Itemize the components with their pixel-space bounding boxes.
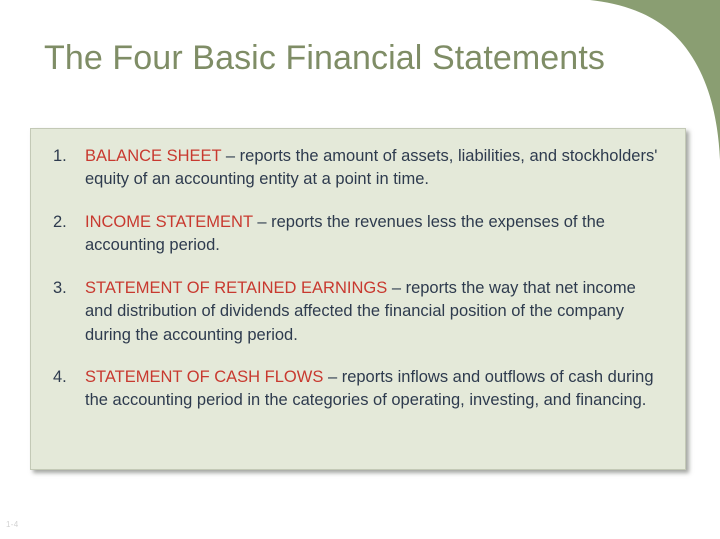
presentation-slide: The Four Basic Financial Statements 1. B… [0, 0, 720, 539]
slide-number: 1-4 [6, 520, 18, 529]
list-item-number: 2. [53, 211, 79, 234]
list-item: 4. STATEMENT OF CASH FLOWS – reports inf… [51, 366, 665, 413]
list-item: 3. STATEMENT OF RETAINED EARNINGS – repo… [51, 277, 665, 347]
list-item-number: 3. [53, 277, 79, 300]
financial-statements-list: 1. BALANCE SHEET – reports the amount of… [51, 145, 665, 413]
list-item-term: INCOME STATEMENT [85, 213, 253, 231]
list-item-number: 4. [53, 366, 79, 389]
list-item-term: STATEMENT OF CASH FLOWS [85, 368, 323, 386]
page-title: The Four Basic Financial Statements [44, 38, 664, 78]
list-item: 2. INCOME STATEMENT – reports the revenu… [51, 211, 665, 258]
list-item-term: BALANCE SHEET [85, 147, 221, 165]
list-item-number: 1. [53, 145, 79, 168]
list-item: 1. BALANCE SHEET – reports the amount of… [51, 145, 665, 192]
content-panel: 1. BALANCE SHEET – reports the amount of… [30, 128, 686, 470]
list-item-term: STATEMENT OF RETAINED EARNINGS [85, 279, 387, 297]
